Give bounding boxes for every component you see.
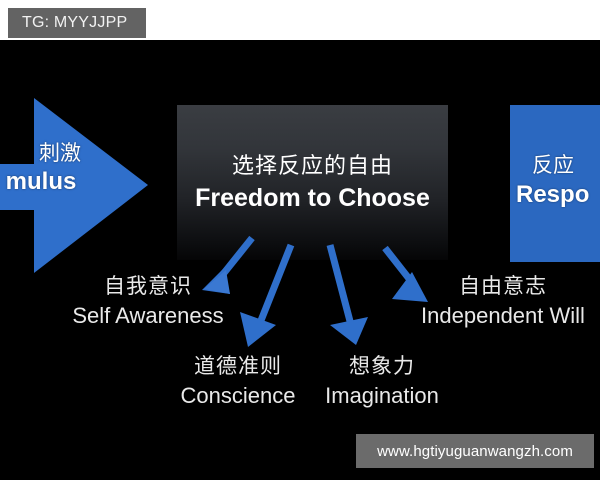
label-self-awareness-en: Self Awareness bbox=[68, 301, 228, 330]
tg-badge-label: TG: MYYJJPP bbox=[22, 14, 127, 32]
label-independent-will-en: Independent Will bbox=[408, 301, 598, 330]
freedom-label-en: Freedom to Choose bbox=[195, 182, 430, 214]
site-watermark-text: www.hgtiyuguanwangzh.com bbox=[377, 443, 573, 460]
label-conscience-en: Conscience bbox=[172, 381, 304, 410]
site-watermark: www.hgtiyuguanwangzh.com bbox=[356, 434, 594, 468]
slide-screenshot: TG: MYYJJPP 刺激 mulus 选择反应的自由 Freedom to … bbox=[0, 0, 600, 480]
tg-watermark-badge: TG: MYYJJPP bbox=[8, 8, 146, 38]
label-self-awareness: 自我意识 Self Awareness bbox=[68, 273, 228, 330]
freedom-label-cn: 选择反应的自由 bbox=[232, 151, 393, 181]
label-imagination-en: Imagination bbox=[308, 381, 456, 410]
label-imagination: 想象力 Imagination bbox=[308, 353, 456, 410]
stimulus-arrow-shape bbox=[0, 98, 148, 273]
label-independent-will: 自由意志 Independent Will bbox=[408, 273, 598, 330]
label-self-awareness-cn: 自我意识 bbox=[68, 273, 228, 301]
freedom-to-choose-box: 选择反应的自由 Freedom to Choose bbox=[177, 105, 448, 260]
label-conscience: 道德准则 Conscience bbox=[172, 353, 304, 410]
response-box-shape bbox=[510, 105, 600, 262]
slide-canvas: 刺激 mulus 选择反应的自由 Freedom to Choose 反应 Re… bbox=[0, 40, 600, 480]
label-imagination-cn: 想象力 bbox=[308, 353, 456, 381]
arrow-to-imagination bbox=[330, 245, 368, 345]
arrow-to-conscience bbox=[240, 245, 291, 347]
label-conscience-cn: 道德准则 bbox=[172, 353, 304, 381]
top-white-strip: TG: MYYJJPP bbox=[0, 0, 600, 40]
label-independent-will-cn: 自由意志 bbox=[408, 273, 598, 301]
